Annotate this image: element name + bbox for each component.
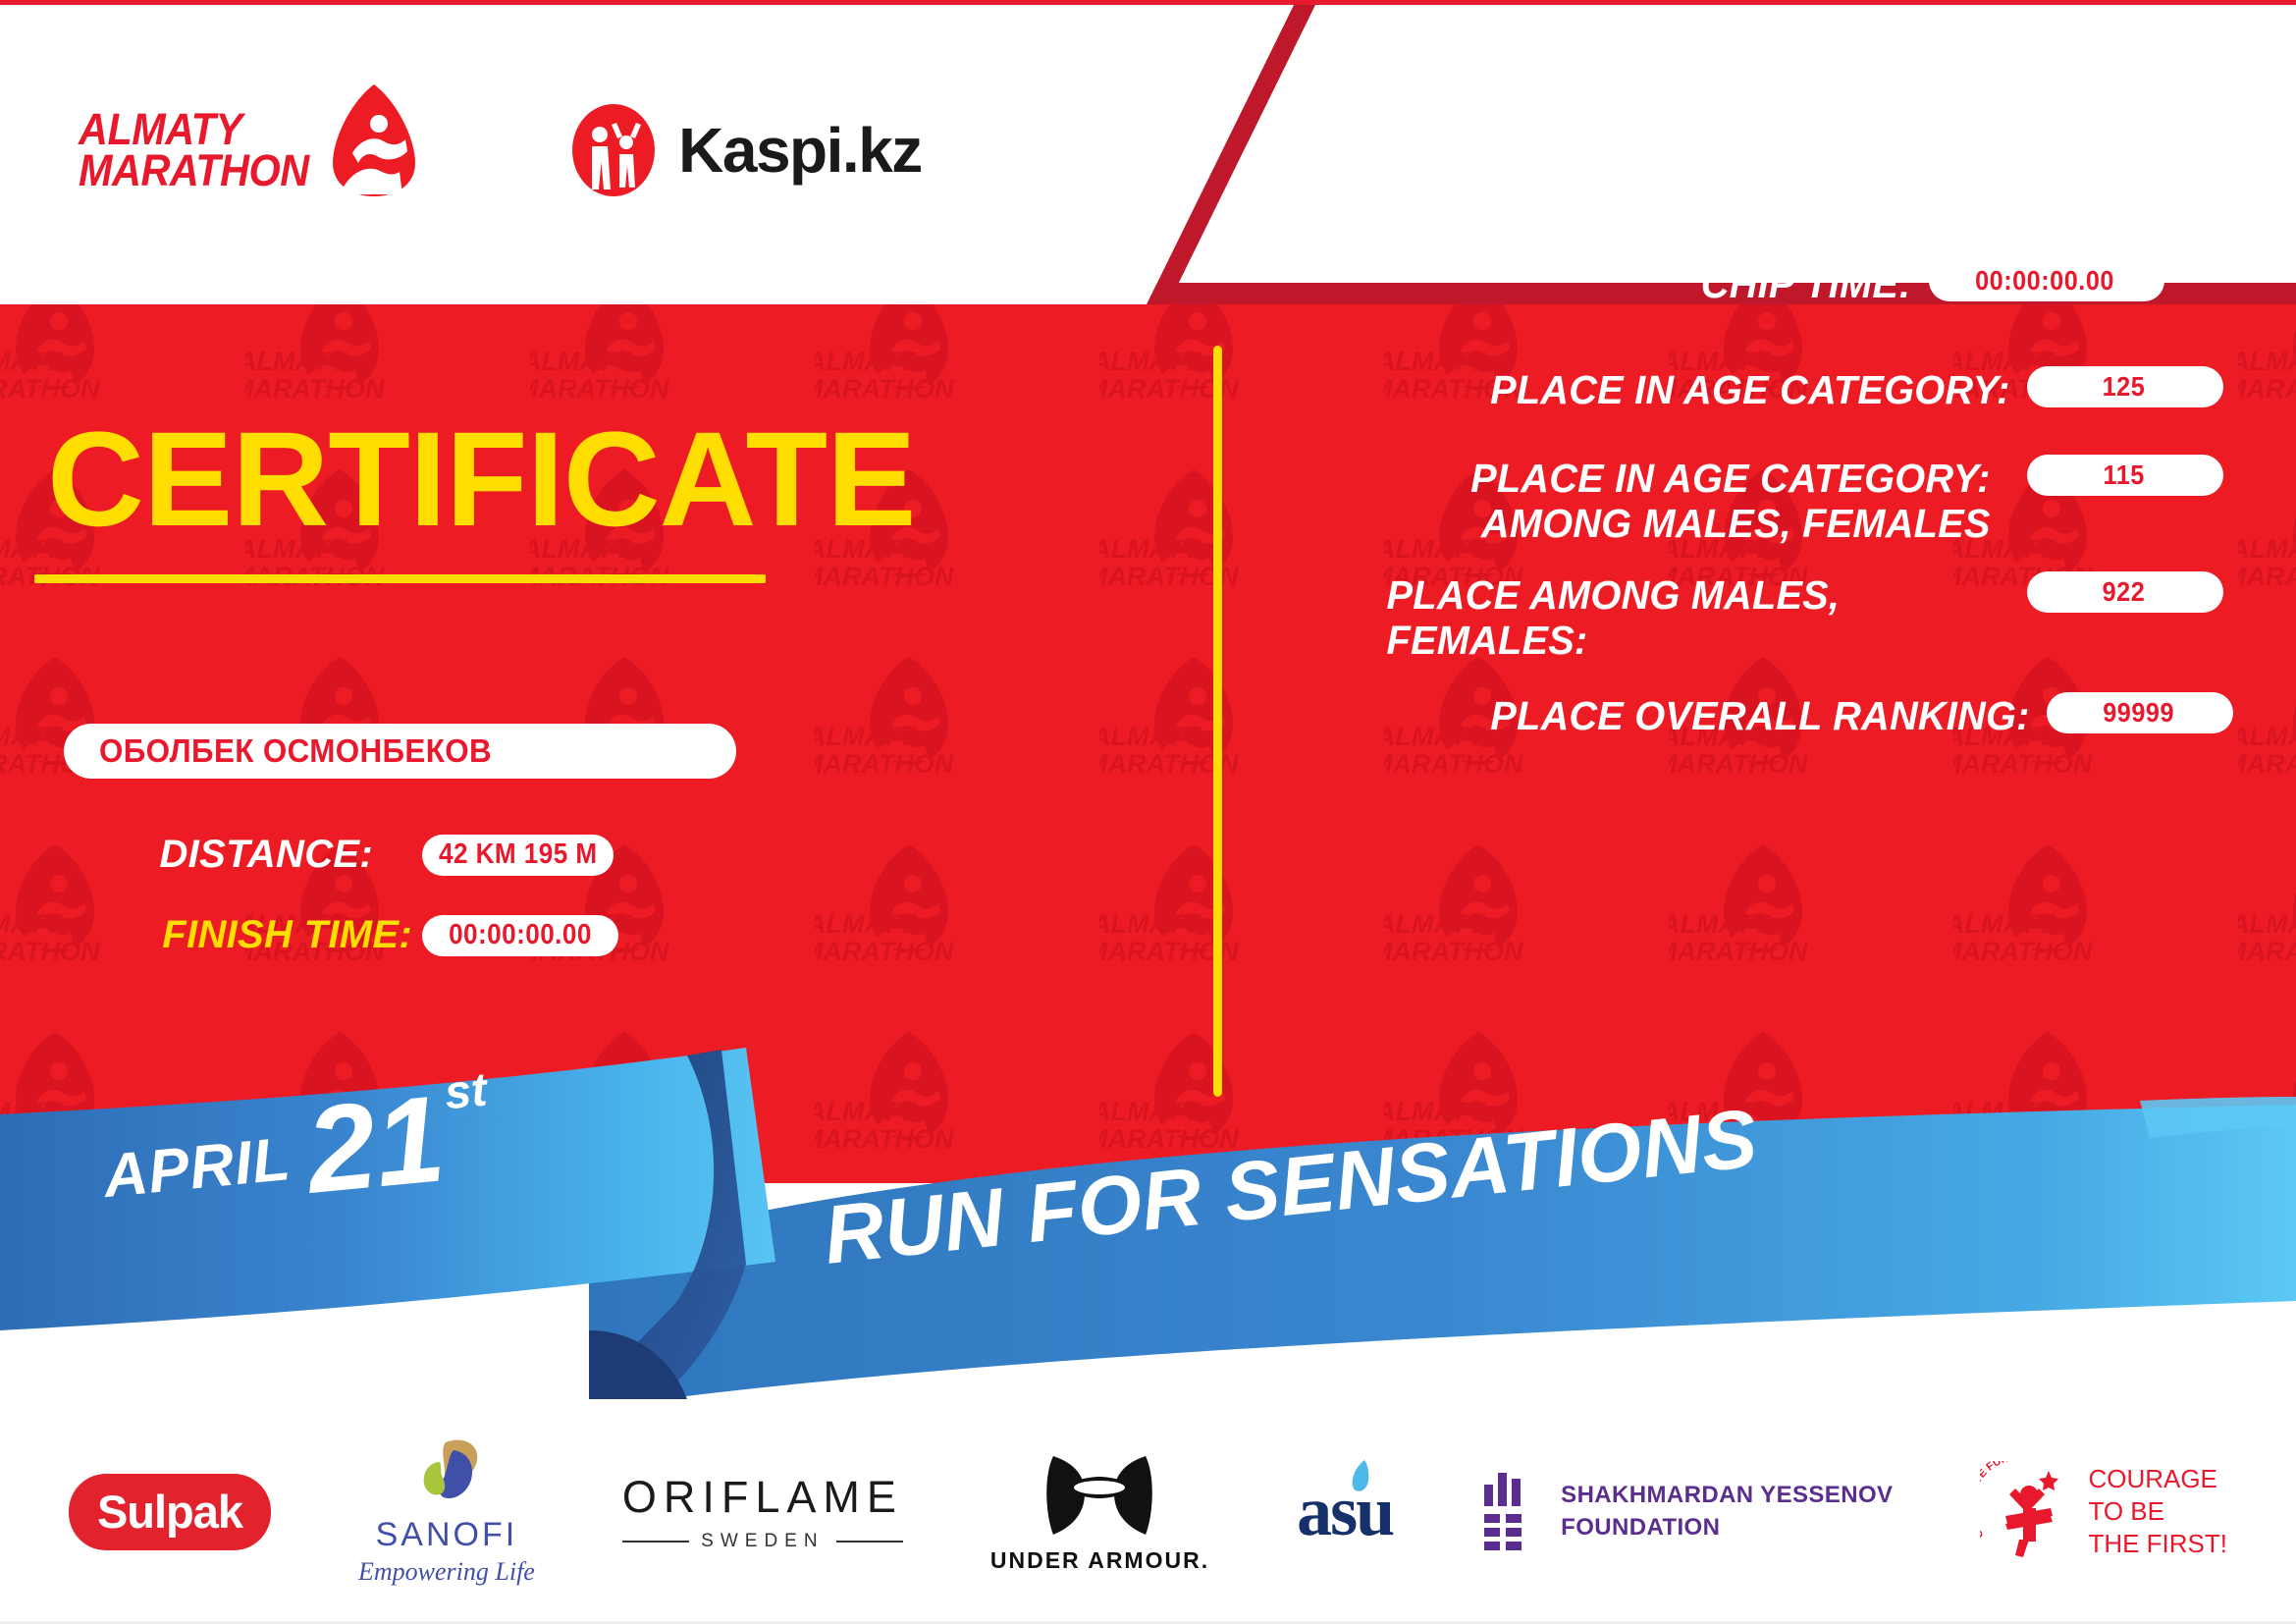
certificate-canvas: ALMATY MARATHON ALMATY MARATHON [0,0,2296,1624]
header-logo-row: ALMATY MARATHON Kaspi.kz [0,0,1129,299]
place-among-gender-label: PLACE AMONG MALES, FEMALES: [1246,571,2007,664]
chip-time-value: 00:00:00.00 [1975,265,2117,297]
vertical-divider [1213,346,1222,1097]
sponsor-asu: asu [1297,1471,1393,1552]
place-overall-label: PLACE OVERALL RANKING: [1247,692,2047,739]
place-age-category-gender-value: 115 [2103,460,2148,491]
place-among-gender-row: PLACE AMONG MALES, FEMALES: 922 [1222,571,2296,664]
finish-time-row: FINISH TIME: 00:00:00.00 [0,913,1158,957]
chip-time-value-pill: 00:00:00.00 [1929,260,2164,301]
title-underline-rule [34,574,766,583]
finish-time-label: FINISH TIME: [0,913,412,957]
courage-line2: TO BE [2088,1495,2227,1528]
participant-name-value: ОБОЛБЕК ОСМОНБЕКОВ [99,732,492,770]
asu-droplet-icon [1348,1459,1373,1492]
oriflame-wordmark: ORIFLAME [622,1472,903,1523]
place-overall-value: 99999 [2103,697,2177,729]
distance-label: DISTANCE: [0,833,373,877]
distance-value: 42 KM 195 M [439,839,598,871]
place-among-gender-value-pill: 922 [2027,571,2223,613]
place-among-gender-label-line1: PLACE AMONG MALES, [1387,573,1991,619]
place-overall-row: PLACE OVERALL RANKING: 99999 [1222,692,2296,739]
almaty-runner-icon [325,81,423,198]
marathon-line: MARATHON [79,150,309,190]
kaspi-logo: Kaspi.kz [570,103,922,197]
sanofi-tagline: Empowering Life [358,1557,535,1587]
place-age-category-gender-label-line2: AMONG MALES, FEMALES [1246,502,1991,547]
asu-wordmark: asu [1297,1471,1393,1552]
sponsor-courage-fund: CORPORATE FUND COURAGE TO BE THE FIRST! [1980,1461,2227,1563]
sanofi-mark-icon [410,1436,483,1513]
right-column: CHIP TIME: 00:00:00.00 PLACE IN AGE CATE… [1222,299,2296,1183]
sulpak-logo: Sulpak [69,1474,271,1550]
sponsor-sulpak: Sulpak [69,1474,271,1550]
place-age-category-gender-label-line1: PLACE IN AGE CATEGORY: [1246,457,1991,502]
kaspi-wordmark: Kaspi.kz [678,114,922,187]
sponsor-strip: Sulpak SANOFI Empowering Life ORIFLAME S… [0,1399,2296,1624]
yessenov-line2: FOUNDATION [1561,1512,1893,1543]
sulpak-label: Sulpak [97,1485,242,1539]
place-age-category-value-pill: 125 [2027,366,2223,407]
sponsor-under-armour: UNDER ARMOUR. [990,1450,1209,1574]
yessenov-line1: SHAKHMARDAN YESSENOV [1561,1480,1893,1511]
oriflame-rule-left [622,1541,689,1543]
sanofi-wordmark: SANOFI [376,1516,518,1554]
chip-time-row: CHIP TIME: 00:00:00.00 [1222,260,2296,307]
yessenov-mark-icon [1480,1471,1539,1553]
sponsor-sanofi: SANOFI Empowering Life [358,1436,535,1587]
almaty-marathon-wordmark: ALMATY MARATHON [79,109,309,190]
courage-line1: COURAGE [2088,1463,2227,1495]
top-hairline [0,0,2296,5]
almaty-line: ALMATY [79,109,309,149]
place-age-category-gender-row: PLACE IN AGE CATEGORY: AMONG MALES, FEMA… [1222,455,2296,547]
courage-fund-mark-icon: CORPORATE FUND [1980,1461,2074,1563]
place-age-category-label: PLACE IN AGE CATEGORY: [1247,366,2027,413]
place-age-category-gender-value-pill: 115 [2027,455,2223,496]
chip-time-label: CHIP TIME: [1244,260,1929,307]
oriflame-sweden-label: SWEDEN [701,1531,824,1552]
place-among-gender-value: 922 [2102,576,2148,608]
almaty-marathon-logo: ALMATY MARATHON [79,102,423,198]
sponsor-yessenov: SHAKHMARDAN YESSENOV FOUNDATION [1480,1471,1893,1553]
under-armour-mark-icon [1041,1450,1157,1541]
place-age-category-value: 125 [2102,371,2148,403]
oriflame-rule-right [836,1541,903,1543]
under-armour-wordmark: UNDER ARMOUR. [990,1547,1209,1574]
oriflame-sweden-row: SWEDEN [622,1531,903,1552]
participant-name-field: ОБОЛБЕК ОСМОНБЕКОВ [64,724,736,779]
finish-time-value-pill: 00:00:00.00 [422,915,618,956]
place-among-gender-label-line2: FEMALES: [1387,619,1991,664]
sponsor-oriflame: ORIFLAME SWEDEN [622,1472,903,1552]
left-column: CERTIFICATE ОБОЛБЕК ОСМОНБЕКОВ DISTANCE:… [0,299,1217,1183]
yessenov-wordmark: SHAKHMARDAN YESSENOV FOUNDATION [1561,1480,1893,1543]
courage-fund-wordmark: COURAGE TO BE THE FIRST! [2088,1463,2227,1561]
distance-row: DISTANCE: 42 KM 195 M [0,833,1158,877]
certificate-title: CERTIFICATE [47,412,1166,547]
courage-line3: THE FIRST! [2088,1528,2227,1560]
finish-time-value: 00:00:00.00 [449,919,592,951]
place-age-category-gender-label: PLACE IN AGE CATEGORY: AMONG MALES, FEMA… [1246,455,2007,547]
kaspi-mark-icon [570,103,657,197]
place-age-category-row: PLACE IN AGE CATEGORY: 125 [1222,366,2296,413]
place-overall-value-pill: 99999 [2047,692,2233,733]
distance-value-pill: 42 KM 195 M [422,835,614,876]
